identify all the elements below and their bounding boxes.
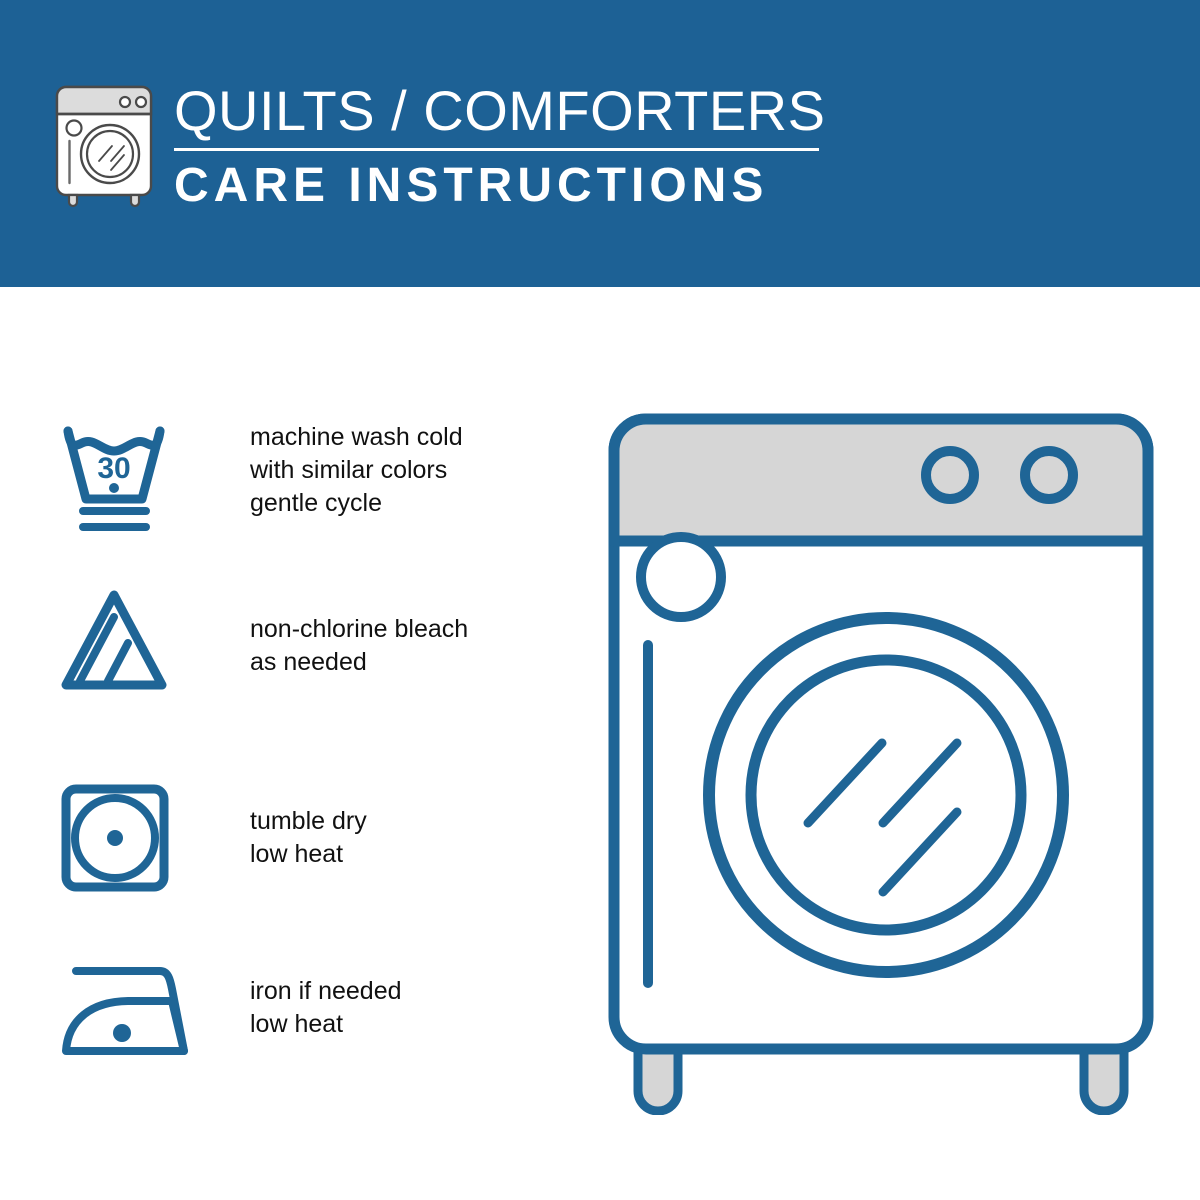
washer-knob [1025, 451, 1073, 499]
care-instruction-label: non-chlorine bleach as needed [250, 587, 468, 679]
machine-wash-30-gentle-icon: 30 [56, 417, 206, 537]
title-divider [174, 148, 819, 151]
wash-temperature-value: 30 [97, 452, 130, 485]
washing-machine-illustration [596, 405, 1166, 1115]
page-title: QUILTS / COMFORTERS [174, 80, 825, 142]
washing-machine-icon [52, 78, 156, 208]
page-header: QUILTS / COMFORTERS CARE INSTRUCTIONS [0, 0, 1200, 287]
care-instruction-label: tumble dry low heat [250, 779, 367, 871]
care-instruction-item: non-chlorine bleach as needed [56, 587, 468, 707]
tumble-dry-low-heat-icon [56, 779, 206, 899]
header-title-block: QUILTS / COMFORTERS CARE INSTRUCTIONS [174, 78, 825, 213]
detergent-port [641, 537, 721, 617]
care-instruction-label: machine wash cold with similar colors ge… [250, 417, 463, 520]
care-instruction-label: iron if needed low heat [250, 955, 402, 1041]
page-subtitle: CARE INSTRUCTIONS [174, 159, 825, 213]
iron-low-heat-icon [56, 955, 206, 1075]
header-content: QUILTS / COMFORTERS CARE INSTRUCTIONS [52, 78, 825, 213]
care-instruction-item: iron if needed low heat [56, 955, 402, 1075]
non-chlorine-bleach-icon [56, 587, 206, 707]
care-instruction-item: 30 machine wash cold with similar colors… [56, 417, 463, 537]
care-instruction-item: tumble dry low heat [56, 779, 367, 899]
care-instruction-list: 30 machine wash cold with similar colors… [0, 287, 560, 1200]
washer-knob [926, 451, 974, 499]
